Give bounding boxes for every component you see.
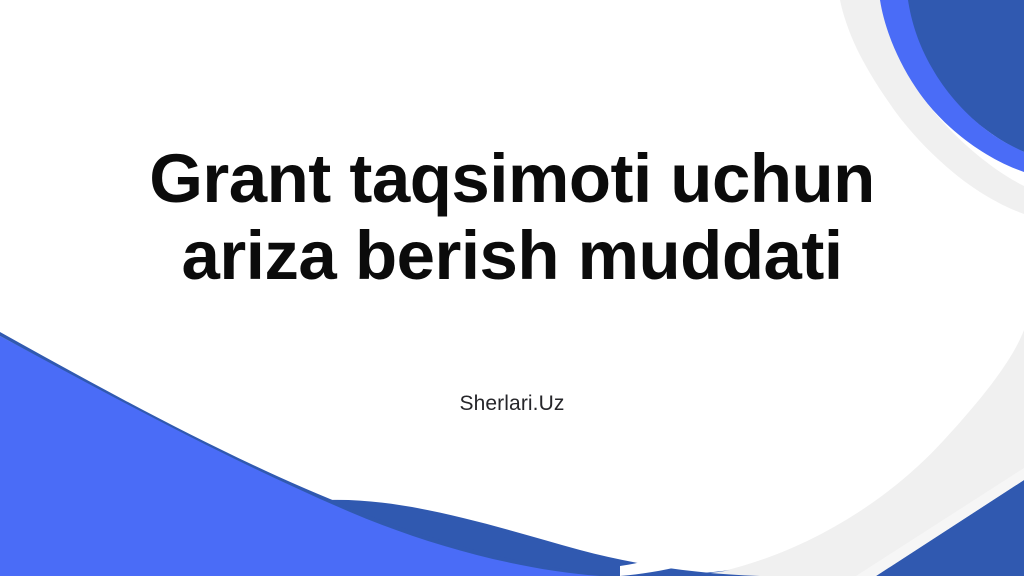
slide-canvas: Grant taqsimoti uchun ariza berish mudda… (0, 0, 1024, 576)
title-block: Grant taqsimoti uchun ariza berish mudda… (0, 140, 1024, 295)
page-title: Grant taqsimoti uchun ariza berish mudda… (40, 140, 984, 295)
slide-subtitle: Sherlari.Uz (0, 392, 1024, 416)
slide-content: Grant taqsimoti uchun ariza berish mudda… (0, 0, 1024, 576)
subtitle-block: Sherlari.Uz (0, 392, 1024, 416)
